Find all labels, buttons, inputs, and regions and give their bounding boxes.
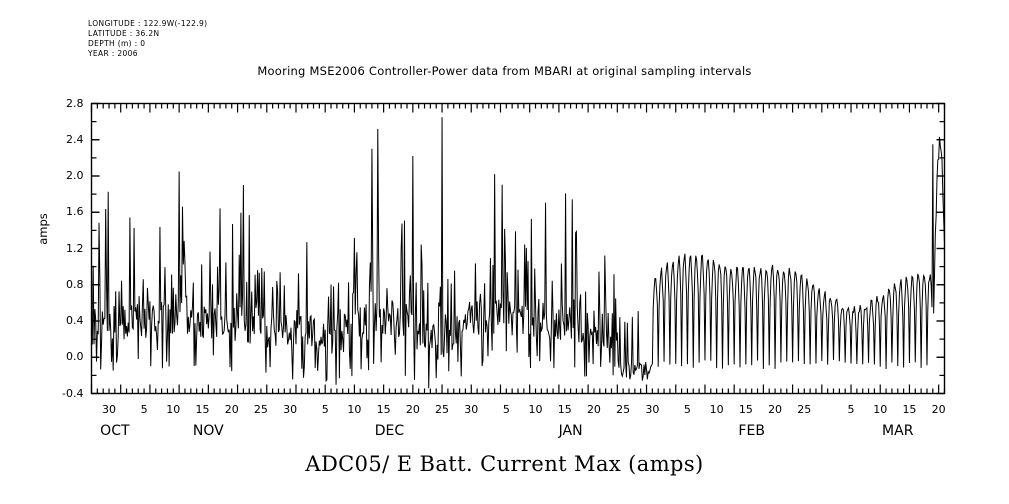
y-axis-tick-label: 1.6 bbox=[32, 205, 84, 218]
y-axis-tick-label: 1.2 bbox=[32, 242, 84, 255]
y-axis-tick-label: 2.8 bbox=[32, 97, 84, 110]
x-axis-tick-label: 30 bbox=[89, 403, 129, 416]
x-axis-tick-label: 30 bbox=[451, 403, 491, 416]
y-axis-tick-label: -0.4 bbox=[32, 387, 84, 400]
x-axis-tick-label: 25 bbox=[784, 403, 824, 416]
x-axis-tick-label: 30 bbox=[632, 403, 672, 416]
y-axis-tick-label: 2.0 bbox=[32, 169, 84, 182]
y-axis-tick-label: 2.4 bbox=[32, 133, 84, 146]
x-axis-month-label: JAN bbox=[531, 423, 611, 439]
y-axis-tick-label: 0.8 bbox=[32, 278, 84, 291]
x-axis-month-label: OCT bbox=[75, 423, 155, 439]
chart-plot-area: 2.82.42.01.61.20.80.40.0-0.4305101520253… bbox=[0, 0, 1009, 504]
x-axis-month-label: MAR bbox=[858, 423, 938, 439]
chart-caption: ADC05/ E Batt. Current Max (amps) bbox=[0, 452, 1009, 476]
x-axis-tick-label: 20 bbox=[919, 403, 959, 416]
x-axis-month-label: FEB bbox=[712, 423, 792, 439]
y-axis-tick-label: 0.0 bbox=[32, 350, 84, 363]
y-axis-tick-label: 0.4 bbox=[32, 314, 84, 327]
x-axis-month-label: DEC bbox=[349, 423, 429, 439]
x-axis-month-label: NOV bbox=[168, 423, 248, 439]
x-axis-tick-label: 30 bbox=[270, 403, 310, 416]
